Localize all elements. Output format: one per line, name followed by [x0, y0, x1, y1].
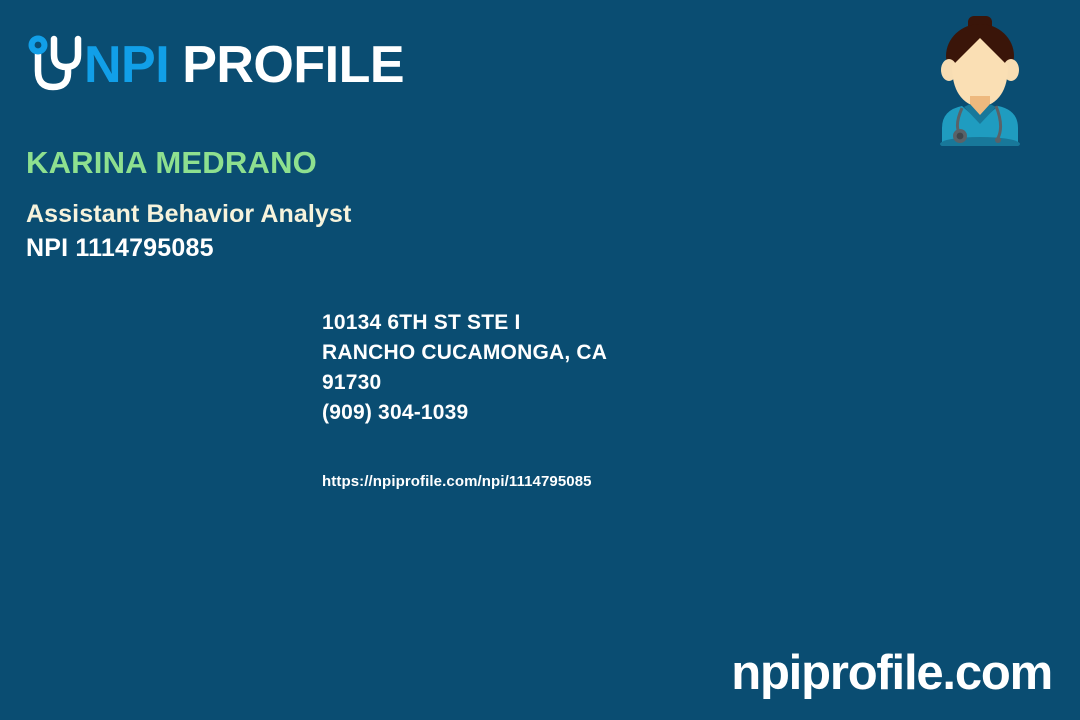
stethoscope-icon — [22, 31, 82, 97]
profile-url-link[interactable]: https://npiprofile.com/npi/1114795085 — [322, 473, 592, 490]
address-line-zip: 91730 — [322, 368, 842, 398]
practice-address: 10134 6TH ST STE I RANCHO CUCAMONGA, CA … — [322, 308, 842, 428]
brand-wordmark-npi: NPI — [84, 36, 169, 94]
provider-taxonomy: Assistant Behavior Analyst — [26, 199, 646, 229]
npi-profile-card: NPIPROFILE KARINA MEDRANO Assistant Beha… — [0, 0, 1080, 720]
brand-wordmark-profile: PROFILE — [182, 36, 404, 94]
provider-npi-number: NPI 1114795085 — [26, 233, 646, 263]
footer-site-name: npiprofile.com — [731, 649, 1052, 698]
address-line-street: 10134 6TH ST STE I — [322, 308, 842, 338]
brand-logo[interactable]: NPIPROFILE — [22, 28, 404, 100]
provider-details: KARINA MEDRANO Assistant Behavior Analys… — [26, 146, 646, 263]
female-doctor-avatar — [932, 14, 1028, 146]
brand-wordmark: NPIPROFILE — [84, 39, 404, 91]
address-line-city-state: RANCHO CUCAMONGA, CA — [322, 338, 842, 368]
provider-name: KARINA MEDRANO — [26, 146, 646, 181]
address-line-phone: (909) 304-1039 — [322, 398, 842, 428]
